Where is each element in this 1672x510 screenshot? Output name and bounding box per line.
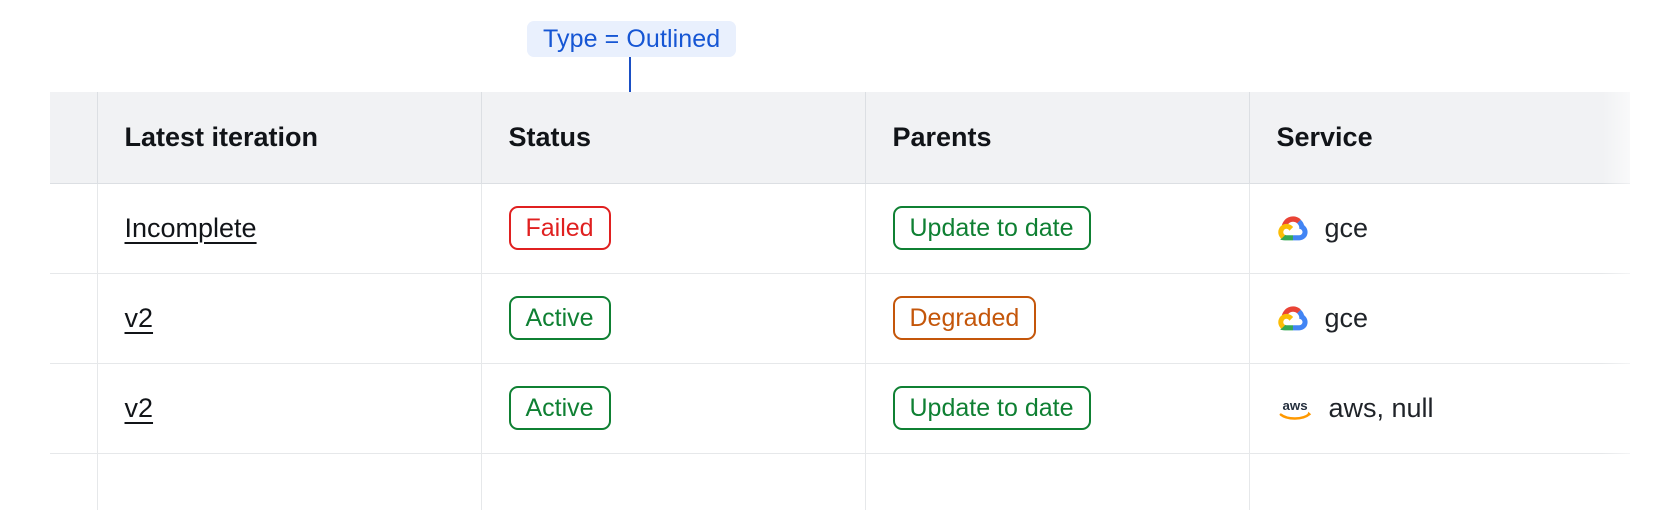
service-label: aws, null <box>1329 393 1434 424</box>
data-table: Latest iteration Status Parents Service … <box>50 92 1630 510</box>
iteration-link[interactable]: v2 <box>125 393 154 423</box>
cell-status: Active <box>481 273 865 363</box>
table-row: Incomplete Failed Update to date <box>50 183 1630 273</box>
annotation-badge: Type = Outlined <box>527 21 736 57</box>
cell-service: aws aws, null <box>1249 363 1630 453</box>
column-header-service[interactable]: Service <box>1249 92 1630 183</box>
table-row: v2 Active Degraded <box>50 273 1630 363</box>
aws-icon: aws <box>1277 393 1315 423</box>
service-wrapper: gce <box>1277 211 1631 245</box>
column-header-latest-iteration[interactable]: Latest iteration <box>97 92 481 183</box>
cell-service <box>1249 453 1630 510</box>
screenshot-root: Type = Outlined Latest iteration Status … <box>0 0 1672 510</box>
column-header-parents[interactable]: Parents <box>865 92 1249 183</box>
status-chip[interactable]: Failed <box>509 206 611 250</box>
table-header-row: Latest iteration Status Parents Service <box>50 92 1630 183</box>
status-chip[interactable]: Active <box>509 296 611 340</box>
cell-status: Failed <box>481 183 865 273</box>
data-table-container: Latest iteration Status Parents Service … <box>50 92 1672 510</box>
table-row: v2 Active Update to date aws <box>50 363 1630 453</box>
table-body: Incomplete Failed Update to date <box>50 183 1630 510</box>
cell-service: gce <box>1249 183 1630 273</box>
cell-status: Active <box>481 363 865 453</box>
column-header-gutter <box>50 92 97 183</box>
svg-text:aws: aws <box>1282 398 1307 413</box>
row-gutter-cell <box>50 273 97 363</box>
cell-latest-iteration: v2 <box>97 363 481 453</box>
column-header-status[interactable]: Status <box>481 92 865 183</box>
table-header: Latest iteration Status Parents Service <box>50 92 1630 183</box>
iteration-link[interactable]: Incomplete <box>125 213 257 243</box>
cell-latest-iteration: v2 <box>97 273 481 363</box>
cell-parents: Degraded <box>865 273 1249 363</box>
google-cloud-icon <box>1277 301 1311 335</box>
row-gutter-cell <box>50 363 97 453</box>
cell-parents: Update to date <box>865 363 1249 453</box>
service-label: gce <box>1325 213 1369 244</box>
cell-status <box>481 453 865 510</box>
row-gutter-cell <box>50 183 97 273</box>
cell-parents: Update to date <box>865 183 1249 273</box>
row-gutter-cell <box>50 453 97 510</box>
parents-chip[interactable]: Update to date <box>893 206 1091 250</box>
google-cloud-icon <box>1277 211 1311 245</box>
cell-parents <box>865 453 1249 510</box>
cell-latest-iteration <box>97 453 481 510</box>
parents-chip[interactable]: Degraded <box>893 296 1037 340</box>
cell-service: gce <box>1249 273 1630 363</box>
service-wrapper: gce <box>1277 301 1631 335</box>
annotation-label: Type = Outlined <box>543 27 720 52</box>
parents-chip[interactable]: Update to date <box>893 386 1091 430</box>
iteration-link[interactable]: v2 <box>125 303 154 333</box>
service-label: gce <box>1325 303 1369 334</box>
table-row <box>50 453 1630 510</box>
cell-latest-iteration: Incomplete <box>97 183 481 273</box>
status-chip[interactable]: Active <box>509 386 611 430</box>
service-wrapper: aws aws, null <box>1277 393 1631 424</box>
